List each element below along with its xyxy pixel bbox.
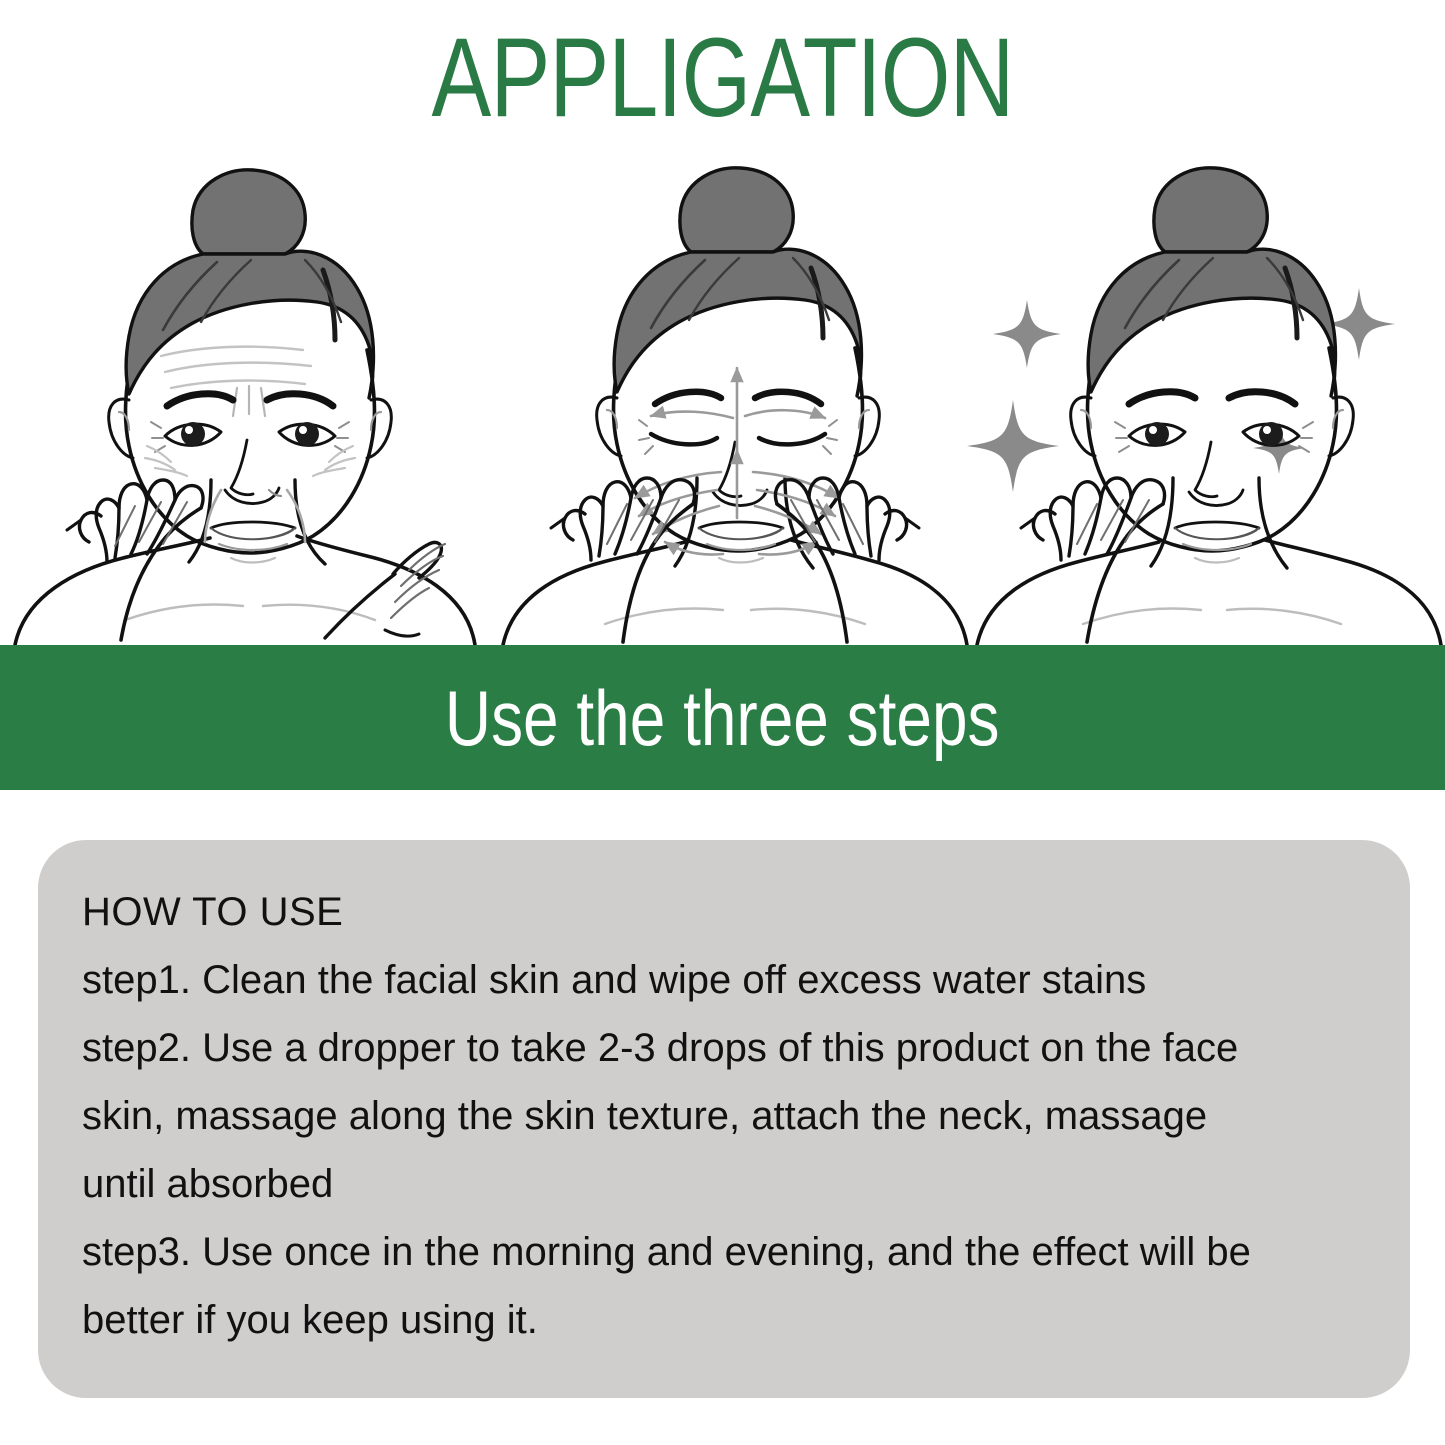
how-to-use-card: HOW TO USE step1. Clean the facial skin … [38,840,1410,1398]
instruction-line: until absorbed [82,1150,1370,1218]
instruction-line: step2. Use a dropper to take 2-3 drops o… [82,1014,1370,1082]
application-infographic: APPLIGATION [0,0,1445,1445]
illustration-step-3 [965,150,1445,645]
steps-banner-label: Use the three steps [445,675,1000,761]
instruction-line: better if you keep using it. [82,1286,1370,1354]
how-to-use-heading: HOW TO USE [82,878,1370,946]
illustration-step-1 [5,150,485,645]
page-title: APPLIGATION [145,18,1301,138]
instruction-line: step3. Use once in the morning and eveni… [82,1218,1370,1286]
illustration-step-2 [495,150,975,645]
steps-banner: Use the three steps [0,645,1445,790]
how-to-use-lines: step1. Clean the facial skin and wipe of… [82,946,1370,1354]
illustration-row [0,150,1445,645]
instruction-line: step1. Clean the facial skin and wipe of… [82,946,1370,1014]
instruction-line: skin, massage along the skin texture, at… [82,1082,1370,1150]
